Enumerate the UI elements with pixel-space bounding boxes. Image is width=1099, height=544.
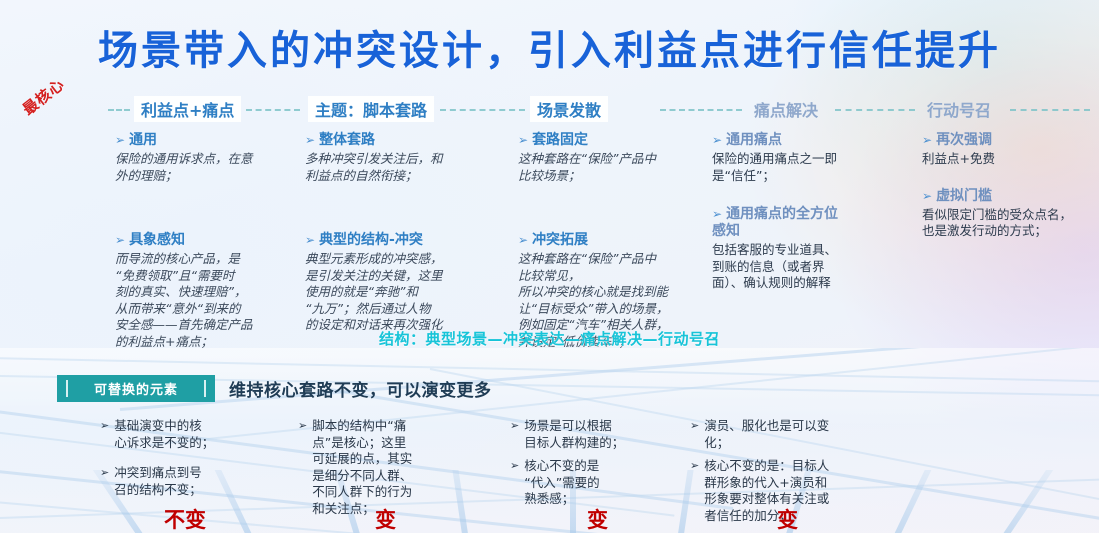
top-block: ➢虚拟门槛 看似限定门槛的受众点名， 也是激发行动的方式； [922,188,1092,240]
block-text: 保险的通用诉求点，在意 外的理赔； [115,151,285,184]
top-header-strip: 利益点+痛点主题：脚本套路场景发散痛点解决行动号召 [0,98,1099,122]
list-item-text: 演员、服化也是可以变 化； [704,418,829,451]
top-header-2[interactable]: 主题：脚本套路 [308,96,434,122]
arrow-bullet-icon: ➢ [510,418,519,451]
top-header-3[interactable]: 场景发散 [530,96,608,122]
list-item: ➢基础演变中的核 心诉求是不变的； [100,418,270,451]
block-heading: ➢套路固定 [518,132,703,149]
block-text: 包括客服的专业道具、 到账的信息（或者界 面）、确认规则的解释 [712,242,892,292]
list-item: ➢核心不变的是 “代入”需要的 熟悉感； [510,458,685,508]
badge-label: 可替换的元素 [94,379,178,398]
block-heading-text: 典型的结构-冲突 [319,232,423,248]
badge-replaceable-elements: 可替换的元素 [57,375,215,402]
top-block: ➢整体套路 多种冲突引发关注后，和 利益点的自然衔接； [305,132,485,184]
top-block: ➢通用痛点的全方位 感知 包括客服的专业道具、 到账的信息（或者界 面）、确认规… [712,206,892,292]
block-heading-text: 通用痛点 [726,132,782,148]
block-heading-text: 整体套路 [319,132,375,148]
block-heading-text: 套路固定 [532,132,588,148]
list-item-text: 核心不变的是 “代入”需要的 熟悉感； [524,458,599,508]
arrow-bullet-icon: ➢ [100,465,109,498]
block-text: 这种套路在“保险”产品中 比较场景； [518,151,703,184]
arrow-bullet-icon: ➢ [922,133,932,147]
arrow-bullet-icon: ➢ [115,133,125,147]
block-heading-text: 具象感知 [129,232,185,248]
arrow-bullet-icon: ➢ [510,458,519,508]
arrow-bullet-icon: ➢ [712,133,722,147]
arrow-bullet-icon: ➢ [115,233,125,247]
replaceable-elements-banner: 可替换的元素 维持核心套路不变，可以演变更多 [57,375,492,402]
top-column-benefit-pain: ➢通用 保险的通用诉求点，在意 外的理赔； ➢具象感知 而导流的核心产品，是 “… [115,132,285,358]
block-heading: ➢冲突拓展 [518,232,703,249]
block-text: 多种冲突引发关注后，和 利益点的自然衔接； [305,151,485,184]
arrow-bullet-icon: ➢ [712,207,722,221]
block-heading-text: 通用痛点的全方位 感知 [712,206,838,239]
top-column-call-to-action: ➢再次强调 利益点+免费 ➢虚拟门槛 看似限定门槛的受众点名， 也是激发行动的方… [922,132,1092,248]
top-block: ➢通用痛点 保险的通用痛点之一即 是“信任”； [712,132,892,184]
bottom-footer-label: 变 [298,504,473,534]
header-dashed-connector [246,109,300,111]
list-item-text: 基础演变中的核 心诉求是不变的； [114,418,214,451]
list-item-text: 脚本的结构中“痛 点”是核心；这里 可延展的点，其实 是细分不同人群、 不同人群… [312,418,412,517]
slide-canvas: 场景带入的冲突设计，引入利益点进行信任提升 最核心 利益点+痛点主题：脚本套路场… [0,0,1099,544]
header-dashed-connector [1010,109,1090,111]
banner-headline: 维持核心套路不变，可以演变更多 [229,376,492,401]
arrow-bullet-icon: ➢ [305,233,315,247]
block-text: 典型元素形成的冲突感， 是引发关注的关键，这里 使用的就是“奔驰”和 “九万”；… [305,251,485,334]
block-heading: ➢具象感知 [115,232,285,249]
block-heading-text: 冲突拓展 [532,232,588,248]
block-heading: ➢虚拟门槛 [922,188,1092,205]
top-block: ➢通用 保险的通用诉求点，在意 外的理赔； [115,132,285,184]
page-title: 场景带入的冲突设计，引入利益点进行信任提升 [0,18,1099,76]
block-heading: ➢通用痛点的全方位 感知 [712,206,892,240]
header-dashed-connector [835,109,915,111]
structure-summary-line: 结构：典型场景—冲突表达—痛点解决—行动号召 [0,328,1099,349]
arrow-bullet-icon: ➢ [298,418,307,517]
block-heading-text: 通用 [129,132,157,148]
arrow-bullet-icon: ➢ [922,189,932,203]
bottom-column-core-demand: ➢基础演变中的核 心诉求是不变的； ➢冲突到痛点到号 召的结构不变； [100,418,270,505]
arrow-bullet-icon: ➢ [305,133,315,147]
header-dashed-connector [108,109,130,111]
top-block: ➢套路固定 这种套路在“保险”产品中 比较场景； [518,132,703,184]
header-dashed-connector [440,109,525,111]
bottom-footer-label: 变 [510,504,685,534]
block-heading-text: 虚拟门槛 [936,188,992,204]
block-text: 看似限定门槛的受众点名， 也是激发行动的方式； [922,207,1092,240]
top-header-5[interactable]: 行动号召 [920,96,998,122]
bottom-column-scene-build: ➢场景是可以根据 目标人群构建的； ➢核心不变的是 “代入”需要的 熟悉感； [510,418,685,515]
list-item-text: 场景是可以根据 目标人群构建的； [524,418,624,451]
bottom-footer-label: 不变 [100,504,270,534]
block-text: 保险的通用痛点之一即 是“信任”； [712,151,892,184]
bottom-rule [0,533,1099,544]
top-column-pain-solving: ➢通用痛点 保险的通用痛点之一即 是“信任”； ➢通用痛点的全方位 感知 包括客… [712,132,892,300]
list-item: ➢场景是可以根据 目标人群构建的； [510,418,685,451]
block-heading: ➢整体套路 [305,132,485,149]
arrow-bullet-icon: ➢ [518,133,528,147]
top-column-scene-diverge: ➢套路固定 这种套路在“保险”产品中 比较场景； ➢冲突拓展 这种套路在“保险”… [518,132,703,358]
top-block: ➢再次强调 利益点+免费 [922,132,1092,168]
list-item: ➢冲突到痛点到号 召的结构不变； [100,465,270,498]
block-heading: ➢通用痛点 [712,132,892,149]
list-item-text: 冲突到痛点到号 召的结构不变； [114,465,202,498]
list-item: ➢脚本的结构中“痛 点”是核心；这里 可延展的点，其实 是细分不同人群、 不同人… [298,418,473,517]
bottom-footer-label: 变 [690,504,885,534]
arrow-bullet-icon: ➢ [690,418,699,451]
top-column-theme-script: ➢整体套路 多种冲突引发关注后，和 利益点的自然衔接； ➢典型的结构-冲突 典型… [305,132,485,342]
arrow-bullet-icon: ➢ [518,233,528,247]
block-heading: ➢典型的结构-冲突 [305,232,485,249]
block-heading: ➢通用 [115,132,285,149]
list-item: ➢演员、服化也是可以变 化； [690,418,885,451]
block-heading-text: 再次强调 [936,132,992,148]
header-dashed-connector [660,109,742,111]
top-header-1[interactable]: 利益点+痛点 [134,96,241,122]
top-block: ➢典型的结构-冲突 典型元素形成的冲突感， 是引发关注的关键，这里 使用的就是“… [305,232,485,334]
block-heading: ➢再次强调 [922,132,1092,149]
top-header-4[interactable]: 痛点解决 [747,96,825,122]
arrow-bullet-icon: ➢ [100,418,109,451]
block-text: 利益点+免费 [922,151,1092,168]
